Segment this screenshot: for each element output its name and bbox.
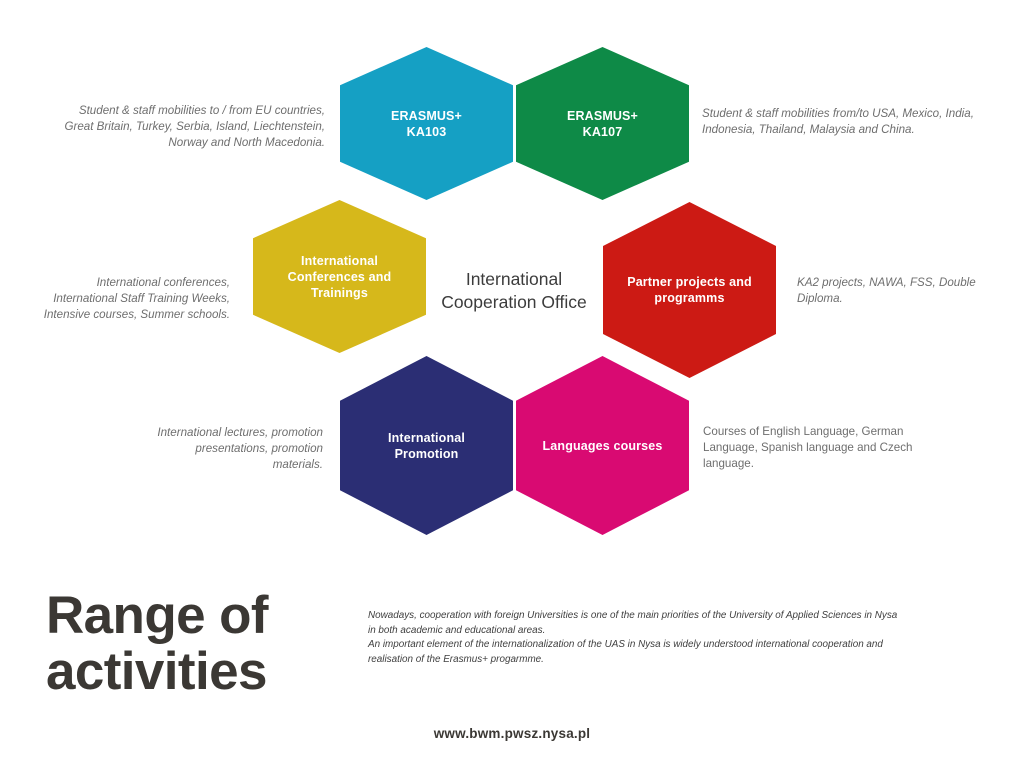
hexagon-label-international-conferences-and-trainings: InternationalConferences andTrainings	[274, 253, 406, 301]
caption-languages-courses: Courses of English Language, German Lang…	[703, 424, 943, 472]
hexagon-international-conferences-and-trainings[interactable]: InternationalConferences andTrainings	[253, 200, 426, 353]
caption-international-conferences-and-trainings: International conferences, International…	[36, 275, 230, 323]
diagram-center-label: InternationalCooperation Office	[430, 268, 598, 314]
hexagon-label-international-promotion: InternationalPromotion	[374, 430, 479, 462]
hexagon-label-languages-courses: Languages courses	[529, 438, 677, 454]
hexagon-languages-courses[interactable]: Languages courses	[516, 356, 689, 535]
caption-erasmus-ka107: Student & staff mobilities from/to USA, …	[702, 106, 974, 138]
hexagon-label-erasmus-ka103: ERASMUS+KA103	[377, 108, 476, 140]
infographic-canvas: ERASMUS+KA103ERASMUS+KA107InternationalC…	[0, 0, 1024, 768]
hexagon-erasmus-ka107[interactable]: ERASMUS+KA107	[516, 47, 689, 200]
page-title: Range ofactivities	[46, 588, 376, 700]
caption-erasmus-ka103: Student & staff mobilities to / from EU …	[60, 103, 325, 151]
intro-paragraph-line: An important element of the internationa…	[368, 638, 898, 667]
intro-paragraph: Nowadays, cooperation with foreign Unive…	[368, 609, 898, 668]
intro-paragraph-line: Nowadays, cooperation with foreign Unive…	[368, 609, 898, 638]
website-url[interactable]: www.bwm.pwsz.nysa.pl	[0, 726, 1024, 741]
hexagon-international-promotion[interactable]: InternationalPromotion	[340, 356, 513, 535]
hexagon-label-erasmus-ka107: ERASMUS+KA107	[553, 108, 652, 140]
caption-international-promotion: International lectures, promotion presen…	[150, 425, 323, 473]
hexagon-label-partner-projects-and-programms: Partner projects andprogramms	[613, 274, 766, 306]
hexagon-partner-projects-and-programms[interactable]: Partner projects andprogramms	[603, 202, 776, 378]
hexagon-erasmus-ka103[interactable]: ERASMUS+KA103	[340, 47, 513, 200]
caption-partner-projects-and-programms: KA2 projects, NAWA, FSS, Double Diploma.	[797, 275, 987, 307]
